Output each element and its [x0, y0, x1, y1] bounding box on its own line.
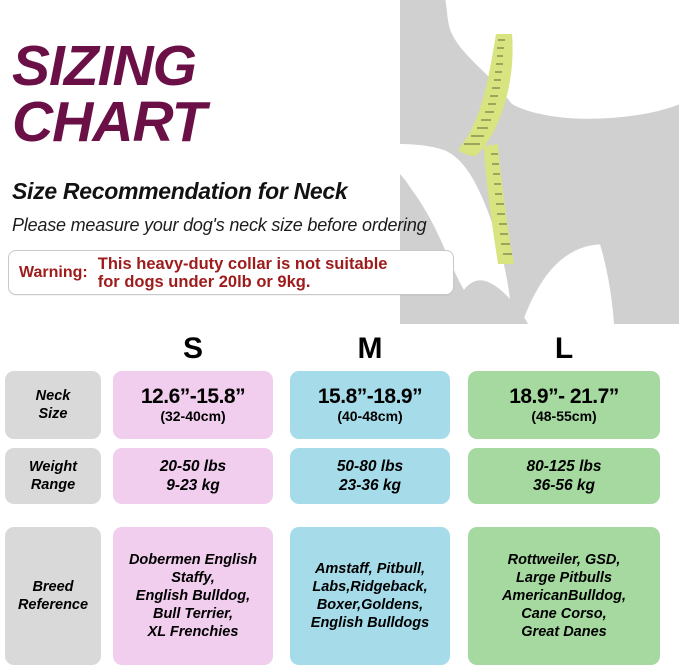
warning-box: Warning: This heavy-duty collar is not s… [8, 250, 454, 295]
warning-label: Warning: [9, 264, 88, 282]
cell-breed-medium: Amstaff, Pitbull, Labs,Ridgeback, Boxer,… [290, 527, 450, 665]
neck-small-cm: (32-40cm) [160, 408, 225, 425]
breed-small-line-2: Staffy, [171, 569, 215, 587]
dog-leg-gap [522, 244, 640, 324]
breed-large-line-2: Large Pitbulls [516, 569, 612, 587]
weight-large-kg: 36-56 kg [533, 476, 595, 495]
title-line-sizing: SIZING [12, 38, 452, 94]
size-header-m: M [290, 332, 450, 366]
dog-front-paw [453, 280, 528, 324]
neck-medium-inches: 15.8”-18.9” [318, 385, 422, 408]
cell-breed-small: Dobermen English Staffy, English Bulldog… [113, 527, 273, 665]
sizing-chart-page: SIZING CHART Size Recommendation for Nec… [0, 0, 679, 672]
size-header-l: L [468, 332, 660, 366]
neck-large-inches: 18.9”- 21.7” [509, 385, 619, 408]
breed-small-line-3: English Bulldog, [136, 587, 250, 605]
weight-small-kg: 9-23 kg [166, 476, 219, 495]
row-label-breed-line2: Reference [18, 596, 88, 614]
cell-neck-size-small: 12.6”-15.8” (32-40cm) [113, 371, 273, 439]
measure-instruction: Please measure your dog's neck size befo… [12, 215, 426, 236]
breed-small-line-4: Bull Terrier, [153, 605, 233, 623]
weight-small-lbs: 20-50 lbs [160, 457, 226, 476]
row-label-weight-line2: Range [31, 476, 75, 494]
warning-text-line1: This heavy-duty collar is not suitable [98, 255, 388, 273]
weight-medium-kg: 23-36 kg [339, 476, 401, 495]
weight-medium-lbs: 50-80 lbs [337, 457, 403, 476]
neck-large-cm: (48-55cm) [531, 408, 596, 425]
breed-large-line-5: Great Danes [521, 623, 606, 641]
weight-large-lbs: 80-125 lbs [527, 457, 602, 476]
page-title: SIZING CHART [12, 38, 452, 150]
cell-weight-large: 80-125 lbs 36-56 kg [468, 448, 660, 504]
warning-text-line2: for dogs under 20lb or 9kg. [98, 273, 311, 291]
title-line-chart: CHART [12, 94, 452, 150]
breed-medium-line-4: English Bulldogs [311, 614, 429, 632]
neck-small-inches: 12.6”-15.8” [141, 385, 245, 408]
row-label-neck-line2: Size [38, 405, 67, 423]
breed-small-line-1: Dobermen English [129, 551, 257, 569]
neck-medium-cm: (40-48cm) [337, 408, 402, 425]
cell-weight-small: 20-50 lbs 9-23 kg [113, 448, 273, 504]
warning-text: This heavy-duty collar is not suitable f… [88, 255, 388, 291]
breed-small-line-5: XL Frenchies [148, 623, 239, 641]
row-label-neck-size: Neck Size [5, 371, 101, 439]
cell-weight-medium: 50-80 lbs 23-36 kg [290, 448, 450, 504]
cell-neck-size-medium: 15.8”-18.9” (40-48cm) [290, 371, 450, 439]
cell-breed-large: Rottweiler, GSD, Large Pitbulls American… [468, 527, 660, 665]
row-label-breed-reference: Breed Reference [5, 527, 101, 665]
measuring-tape [458, 34, 514, 264]
row-label-breed-line1: Breed [32, 578, 73, 596]
breed-medium-line-3: Boxer,Goldens, [317, 596, 423, 614]
breed-medium-line-2: Labs,Ridgeback, [312, 578, 427, 596]
subtitle: Size Recommendation for Neck [12, 178, 347, 205]
row-label-weight-range: Weight Range [5, 448, 101, 504]
size-header-s: S [113, 332, 273, 366]
breed-large-line-3: AmericanBulldog, [502, 587, 626, 605]
breed-large-line-4: Cane Corso, [521, 605, 606, 623]
row-label-neck-line1: Neck [36, 387, 71, 405]
breed-large-line-1: Rottweiler, GSD, [508, 551, 621, 569]
dog-hind-leg [590, 193, 679, 324]
row-label-weight-line1: Weight [29, 458, 77, 476]
cell-neck-size-large: 18.9”- 21.7” (48-55cm) [468, 371, 660, 439]
breed-medium-line-1: Amstaff, Pitbull, [315, 560, 425, 578]
